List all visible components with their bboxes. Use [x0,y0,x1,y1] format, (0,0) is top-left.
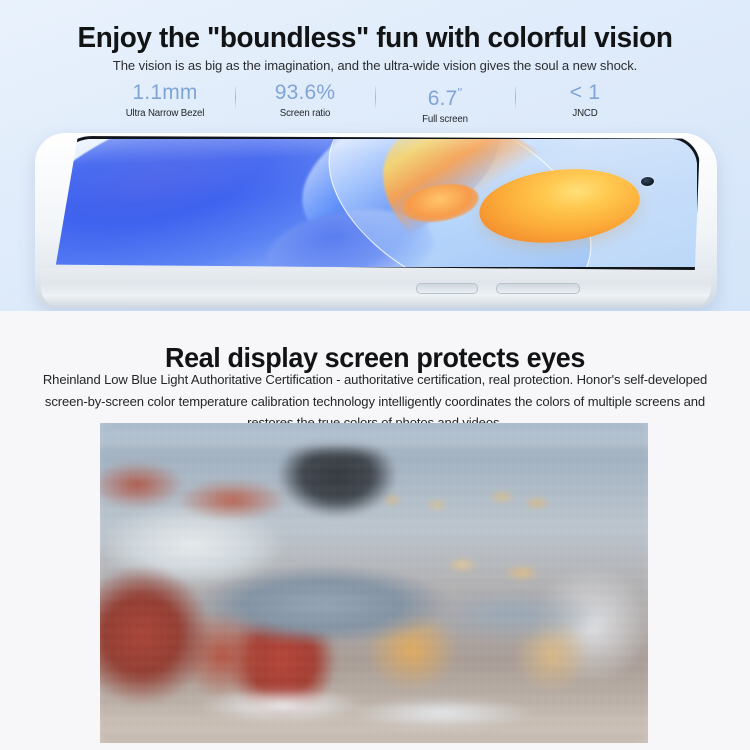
city-backdrop-photo [100,423,648,743]
phone-screen [52,136,700,270]
stat-full-screen: 6.7" Full screen [375,80,515,128]
product-page: Enjoy the "boundless" fun with colorful … [0,0,750,750]
phone-front-display-image [35,133,717,311]
stat-label: Screen ratio [235,106,375,122]
stat-jncd: < 1 JNCD [515,80,655,122]
stat-value-unit: " [457,85,462,100]
stat-ultra-narrow-bezel: 1.1mm Ultra Narrow Bezel [95,80,235,122]
phone-wallpaper [55,139,697,267]
stat-value: < 1 [515,80,655,106]
stat-value: 93.6% [235,80,375,106]
section-boundless-vision: Enjoy the "boundless" fun with colorful … [0,0,750,311]
stat-screen-ratio: 93.6% Screen ratio [235,80,375,122]
stat-value-number: 6.7 [428,87,458,110]
section-eye-protection: Real display screen protects eyes Rheinl… [0,311,750,750]
stat-label: JNCD [515,106,655,122]
spec-stats-row: 1.1mm Ultra Narrow Bezel 93.6% Screen ra… [95,80,655,128]
speaker-port-icon [416,283,478,294]
phone-bottom-rail [41,268,711,308]
section1-title: Enjoy the "boundless" fun with colorful … [8,22,743,55]
stat-value: 6.7" [375,80,515,112]
city-backdrop-texture [100,423,648,743]
stat-label: Full screen [375,112,515,128]
usb-c-port-icon [496,283,580,294]
stat-label: Ultra Narrow Bezel [95,106,235,122]
front-camera-icon [641,177,655,187]
stat-value: 1.1mm [95,80,235,106]
section1-subtitle: The vision is as big as the imagination,… [6,58,745,73]
